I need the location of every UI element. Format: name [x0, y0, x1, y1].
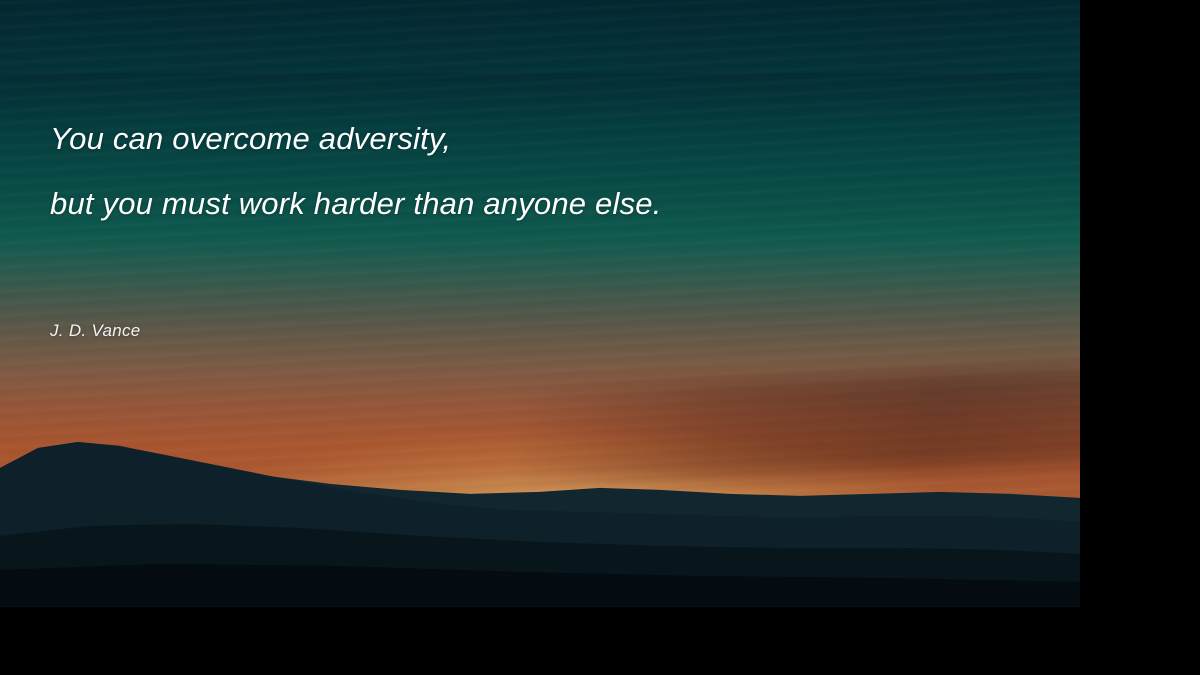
text-overlay: You can overcome adversity, but you must… [0, 0, 1080, 607]
quote-line-1: You can overcome adversity, [50, 121, 451, 157]
letterbox-bottom [0, 607, 1080, 675]
quote-line-2: but you must work harder than anyone els… [50, 186, 662, 222]
letterbox-right [1080, 0, 1200, 675]
quote-attribution: J. D. Vance [50, 321, 141, 341]
quote-slide: You can overcome adversity, but you must… [0, 0, 1200, 675]
